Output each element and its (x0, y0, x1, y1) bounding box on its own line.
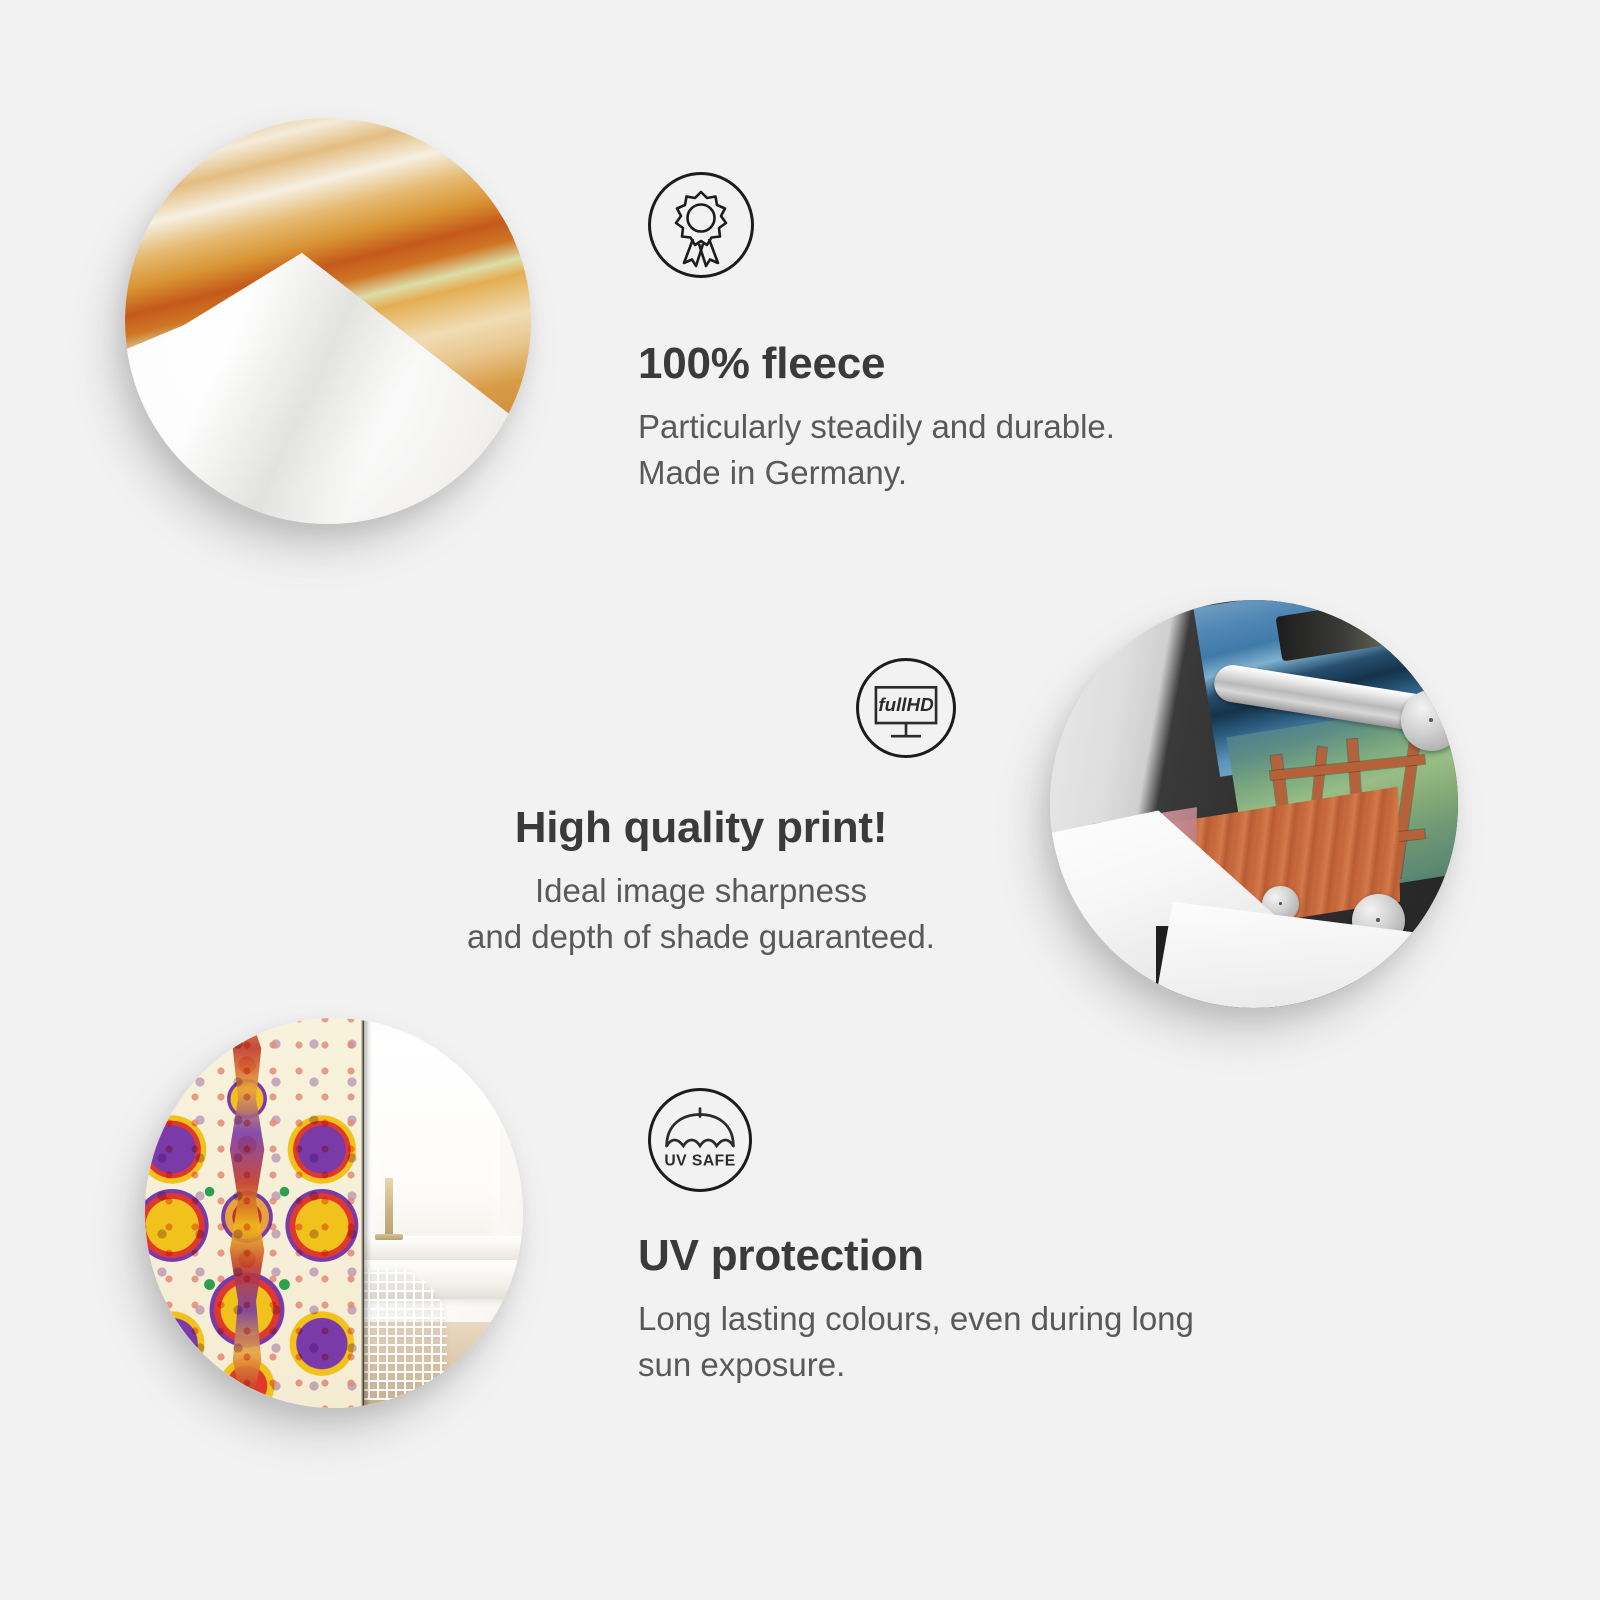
feature-body-line-1: Long lasting colours, even during long (638, 1296, 1438, 1343)
feature-text-uv-protection: UV protection Long lasting colours, even… (638, 1232, 1438, 1389)
mandala-wallpaper-interior-photo (145, 1018, 523, 1408)
feature-headline: High quality print! (406, 804, 996, 852)
feature-block-fleece: 100% fleece Particularly steadily and du… (0, 0, 1600, 560)
uv-safe-icon-label: UV SAFE (664, 1152, 735, 1169)
fullhd-icon-label: fullHD (878, 694, 934, 715)
large-format-printer-photo (1050, 600, 1458, 1008)
feature-text-fleece: 100% fleece Particularly steadily and du… (638, 340, 1398, 497)
promo-features-page: 100% fleece Particularly steadily and du… (0, 0, 1600, 1600)
feature-body-line-2: Made in Germany. (638, 450, 1398, 497)
award-ribbon-icon (648, 172, 754, 278)
feature-headline: UV protection (638, 1232, 1438, 1280)
feature-block-print-quality: fullHD High quality print! Ideal image s… (0, 560, 1600, 1030)
feature-body-line-2: sun exposure. (638, 1342, 1438, 1389)
fullhd-monitor-icon: fullHD (856, 658, 956, 758)
feature-body-line-2: and depth of shade guaranteed. (406, 914, 996, 961)
uv-safe-umbrella-icon: UV SAFE (648, 1088, 752, 1192)
feature-body-line-1: Ideal image sharpness (406, 868, 996, 915)
feature-text-print-quality: High quality print! Ideal image sharpnes… (406, 804, 996, 961)
feature-body-line-1: Particularly steadily and durable. (638, 404, 1398, 451)
feature-block-uv-protection: UV SAFE UV protection Long lasting colou… (0, 1010, 1600, 1600)
peeling-fleece-wallpaper-photo (125, 118, 531, 524)
feature-headline: 100% fleece (638, 340, 1398, 388)
